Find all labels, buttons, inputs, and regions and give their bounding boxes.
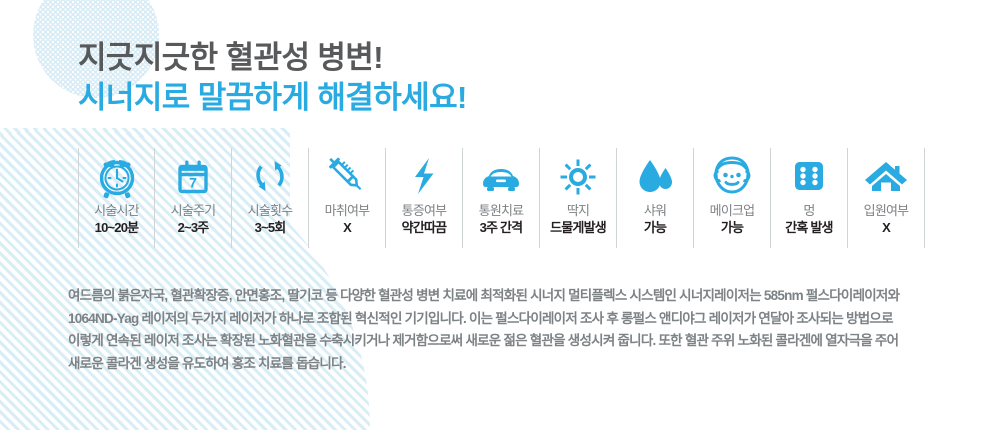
lightning-bolt-icon	[404, 148, 444, 204]
attribute-label: 멍	[803, 204, 814, 219]
headline-line-1: 지긋지긋한 혈관성 병변!	[78, 38, 467, 78]
attribute-label: 시술횟수	[248, 204, 293, 219]
attribute-value: 10~20분	[95, 219, 139, 237]
attribute-value: 가능	[721, 219, 743, 237]
description-line-1: 여드름의 붉은자국, 혈관확장증, 안면홍조, 딸기코 등 다양한 혈관성 병변…	[68, 285, 948, 308]
water-drops-icon	[633, 148, 677, 204]
attribute-label: 통원치료	[479, 204, 524, 219]
treatment-attributes-strip: 시술시간 10~20분 7 시술주기 2~3주	[78, 148, 925, 248]
calendar-icon: 7	[170, 148, 216, 204]
description-paragraph: 여드름의 붉은자국, 혈관확장증, 안면홍조, 딸기코 등 다양한 혈관성 병변…	[68, 285, 948, 375]
attribute-item-pain: 통증여부 약간따끔	[386, 148, 463, 248]
attribute-item-bruise: 멍 간혹 발생	[771, 148, 848, 248]
attribute-item-treatment-time: 시술시간 10~20분	[78, 148, 155, 248]
calendar-day-number: 7	[189, 175, 197, 191]
attribute-value: 드물게발생	[550, 219, 606, 237]
description-line-2: 1064ND-Yag 레이저의 두가지 레이저가 하나로 조합된 혁신적인 기기…	[68, 308, 948, 331]
attribute-value: X	[882, 219, 890, 237]
attribute-value: X	[343, 219, 351, 237]
alarm-clock-icon	[93, 148, 141, 204]
headline-line-2: 시너지로 말끔하게 해결하세요!	[78, 78, 467, 118]
attribute-item-scab: 딱지 드물게발생	[540, 148, 617, 248]
attribute-value: 가능	[644, 219, 666, 237]
house-icon	[862, 148, 910, 204]
attribute-value: 2~3주	[178, 219, 209, 237]
attribute-item-shower: 샤워 가능	[617, 148, 694, 248]
headline: 지긋지긋한 혈관성 병변! 시너지로 말끔하게 해결하세요!	[78, 38, 467, 119]
attribute-value: 3주 간격	[480, 219, 523, 237]
description-line-3: 이렇게 연속된 레이저 조사는 확장된 노화혈관을 수축시키거나 제거함으로써 …	[68, 330, 948, 353]
attribute-item-anesthesia: 마취여부 X	[309, 148, 386, 248]
attribute-label: 딱지	[567, 204, 589, 219]
attribute-item-treatment-count: 시술횟수 3~5회	[232, 148, 309, 248]
dice-icon	[787, 148, 831, 204]
infographic-banner: 지긋지긋한 혈관성 병변! 시너지로 말끔하게 해결하세요!	[0, 0, 1000, 430]
attribute-label: 메이크업	[710, 204, 755, 219]
syringe-icon	[324, 148, 370, 204]
attribute-label: 시술주기	[171, 204, 216, 219]
attribute-item-makeup: 메이크업 가능	[694, 148, 771, 248]
refresh-cycle-icon	[247, 148, 293, 204]
attribute-value: 3~5회	[255, 219, 286, 237]
attribute-label: 마취여부	[325, 204, 370, 219]
attribute-item-treatment-cycle: 7 시술주기 2~3주	[155, 148, 232, 248]
sun-icon	[555, 148, 601, 204]
car-icon	[476, 148, 526, 204]
attribute-value: 간혹 발생	[785, 219, 832, 237]
attribute-label: 시술시간	[94, 204, 139, 219]
attribute-item-hospitalization: 입원여부 X	[848, 148, 925, 248]
attribute-label: 샤워	[644, 204, 666, 219]
attribute-label: 통증여부	[402, 204, 447, 219]
attribute-label: 입원여부	[864, 204, 909, 219]
face-smile-icon	[706, 148, 758, 204]
attribute-value: 약간따끔	[402, 219, 447, 237]
description-line-4: 새로운 콜라겐 생성을 유도하여 홍조 치료를 돕습니다.	[68, 353, 948, 376]
attribute-item-outpatient: 통원치료 3주 간격	[463, 148, 540, 248]
